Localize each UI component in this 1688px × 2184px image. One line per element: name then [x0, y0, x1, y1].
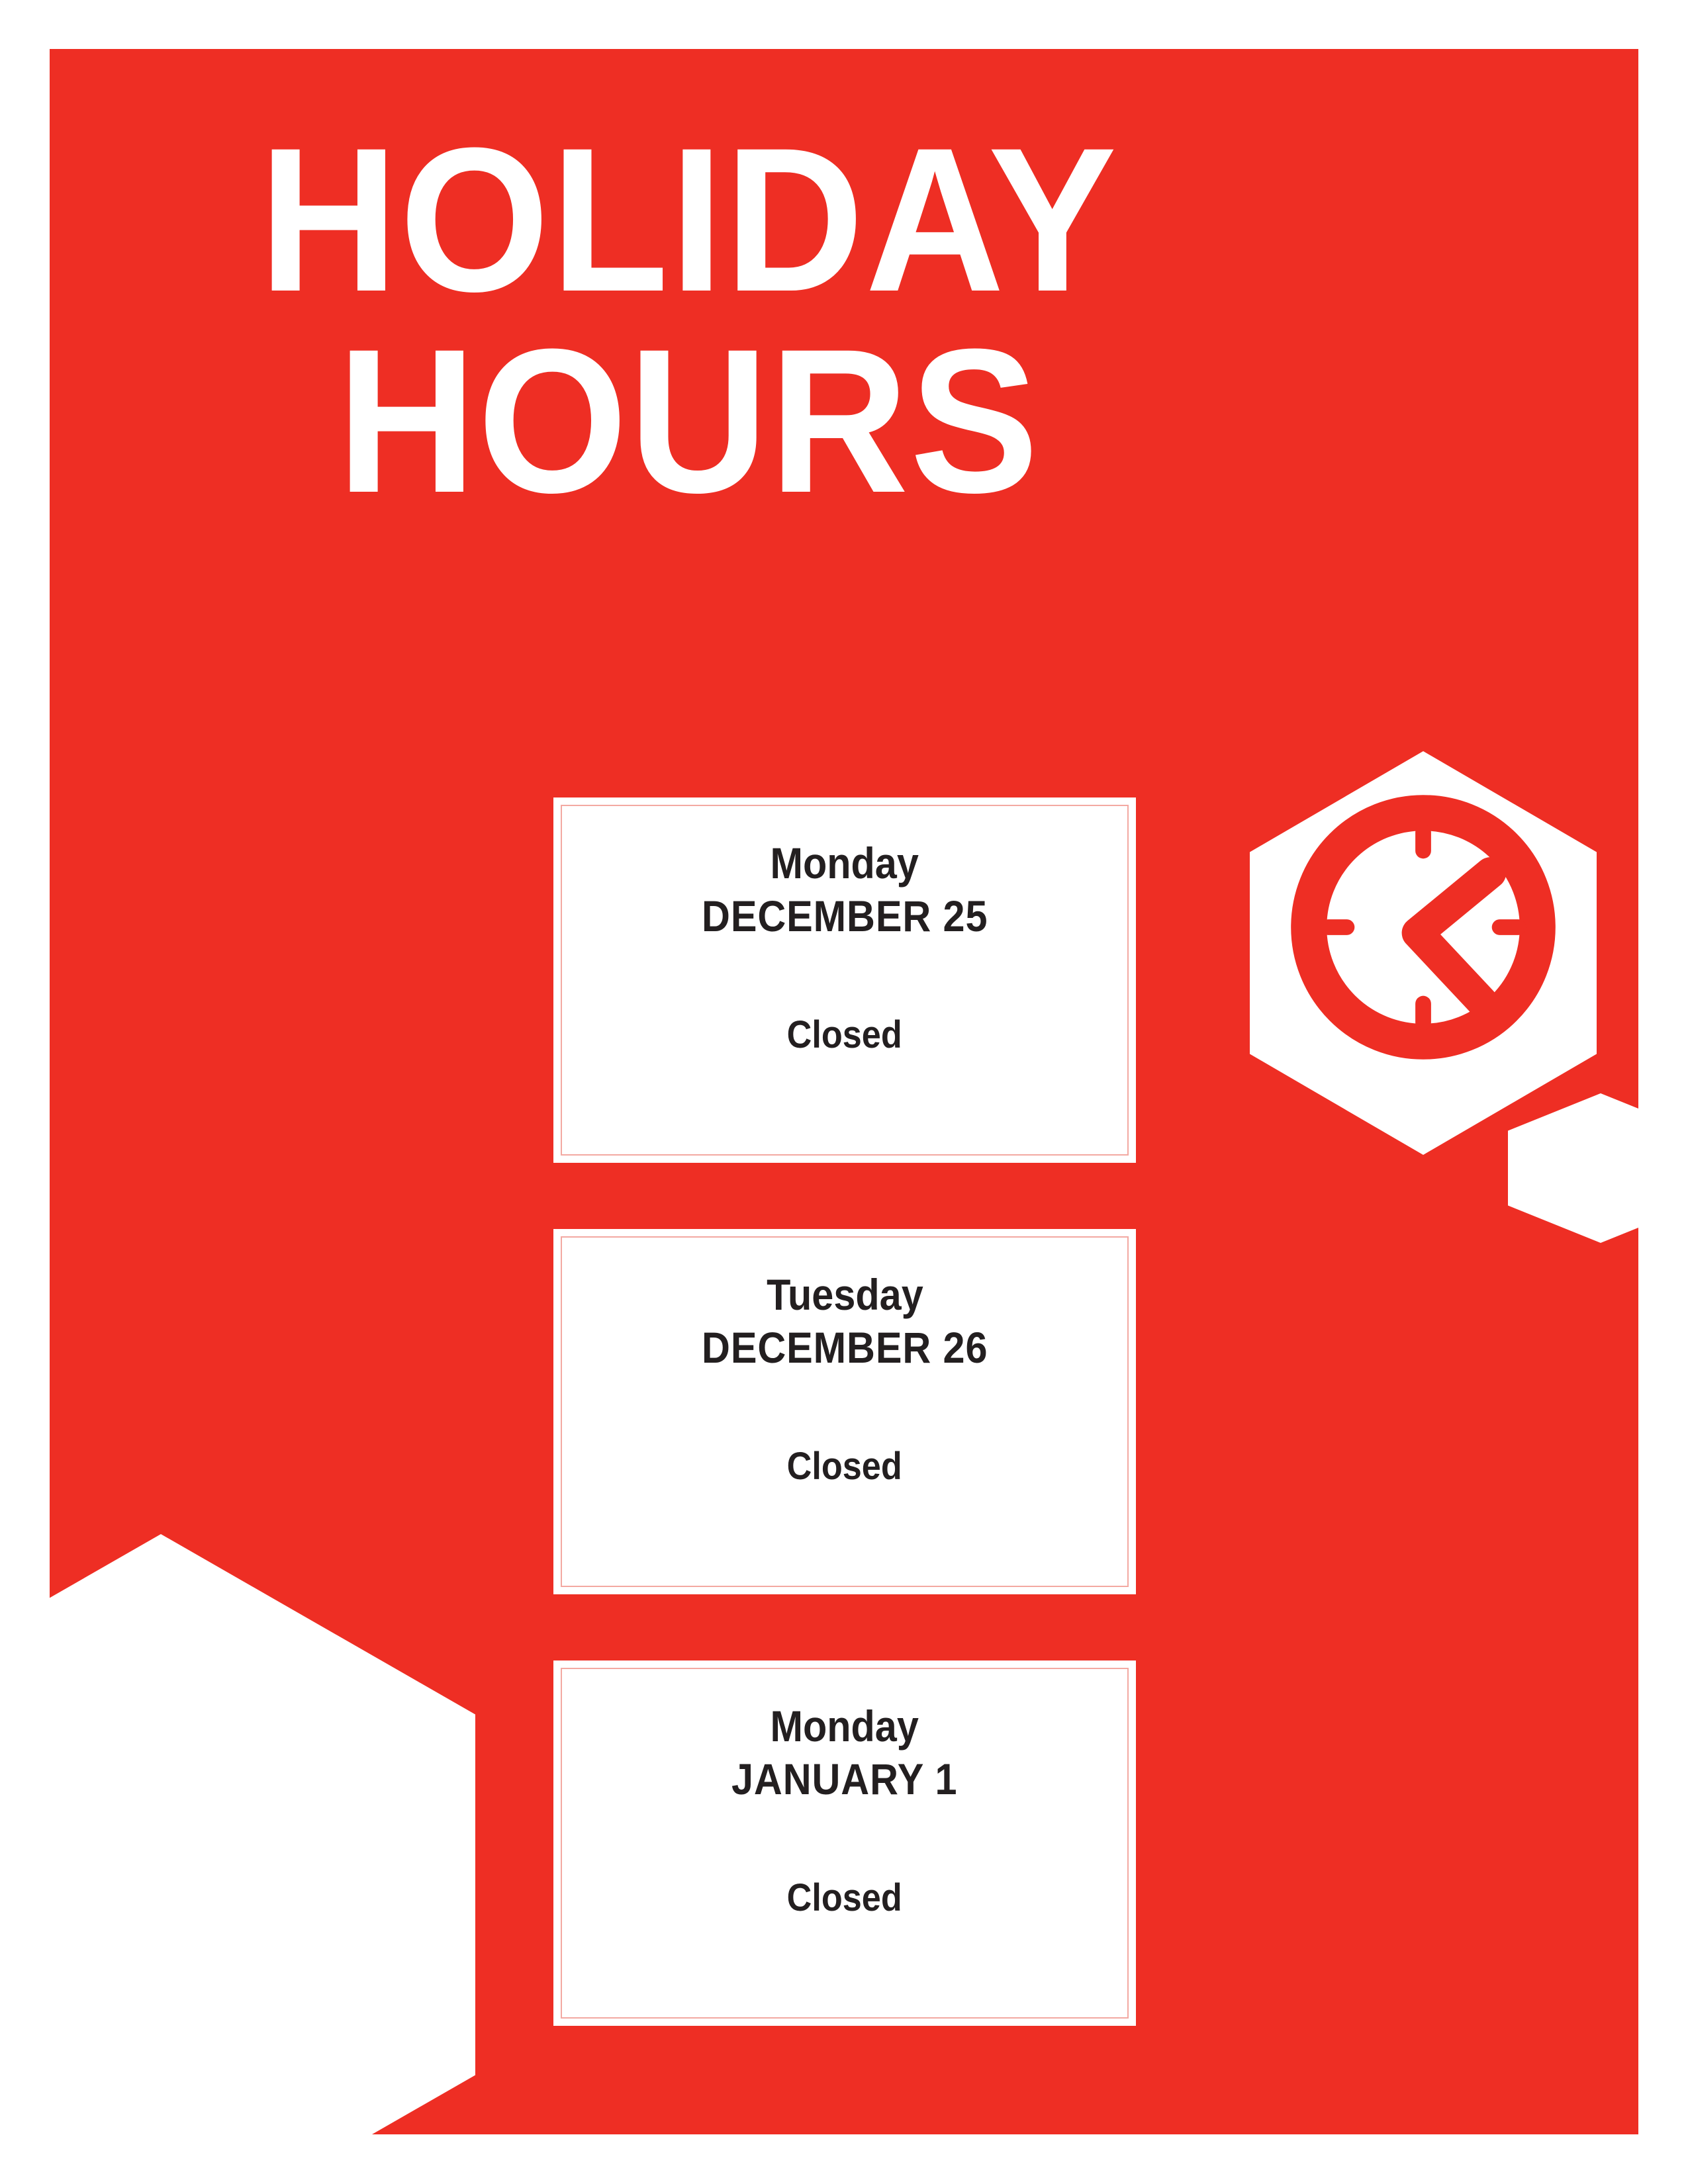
hours-card-list: Monday DECEMBER 25 Closed Tuesday DECEMB…: [553, 797, 1136, 2092]
card-body: Tuesday DECEMBER 26 Closed: [553, 1229, 1136, 1594]
card-body: Monday JANUARY 1 Closed: [553, 1661, 1136, 2026]
card-body: Monday DECEMBER 25 Closed: [553, 797, 1136, 1163]
hours-card: Tuesday DECEMBER 26 Closed: [553, 1229, 1136, 1594]
card-day-label: Tuesday: [767, 1271, 923, 1318]
card-day-label: Monday: [771, 840, 919, 887]
hexagon-bottom-left-decoration: [50, 1534, 475, 2134]
title-line-holiday: HOLIDAY: [88, 119, 1289, 320]
card-status-label: Closed: [787, 1445, 902, 1488]
hexagon-small-accent-decoration: [1508, 1093, 1638, 1243]
clock-icon: [1280, 784, 1566, 1070]
card-date-label: JANUARY 1: [731, 1754, 958, 1805]
card-day-label: Monday: [771, 1703, 919, 1750]
hours-card: Monday DECEMBER 25 Closed: [553, 797, 1136, 1163]
holiday-hours-poster: HOLIDAY HOURS Monday DECEMBER 25 Closed …: [0, 0, 1688, 2184]
card-status-label: Closed: [787, 1014, 902, 1056]
title-line-hours: HOURS: [88, 320, 1289, 522]
card-date-label: DECEMBER 26: [702, 1322, 988, 1374]
page-title: HOLIDAY HOURS: [88, 119, 1289, 522]
card-status-label: Closed: [787, 1877, 902, 1919]
hours-card: Monday JANUARY 1 Closed: [553, 1661, 1136, 2026]
card-date-label: DECEMBER 25: [702, 891, 988, 942]
